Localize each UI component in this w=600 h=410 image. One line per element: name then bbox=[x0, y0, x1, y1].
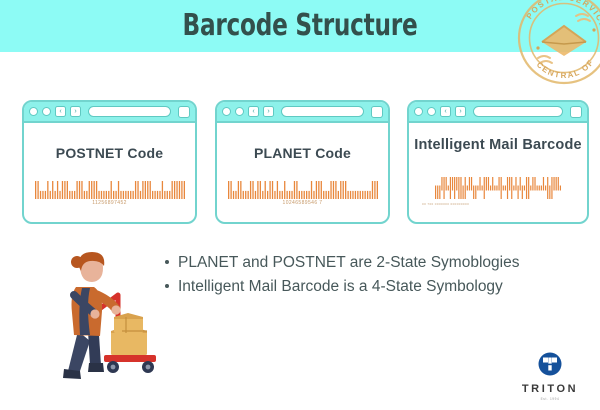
browser-chrome: ‹ › bbox=[24, 102, 195, 123]
card-title: PLANET Code bbox=[254, 145, 351, 163]
list-item: PLANET and POSTNET are 2-State Symoblogi… bbox=[178, 252, 538, 274]
square-button-icon[interactable] bbox=[570, 106, 582, 118]
window-dot-icon bbox=[42, 107, 51, 116]
chevron-right-icon[interactable]: › bbox=[70, 106, 81, 117]
chevron-left-icon[interactable]: ‹ bbox=[440, 106, 451, 117]
square-button-icon[interactable] bbox=[371, 106, 383, 118]
page-title: Barcode Structure bbox=[42, 8, 558, 43]
chevron-left-icon[interactable]: ‹ bbox=[55, 106, 66, 117]
barcode-block: 10246589546 7 bbox=[217, 181, 388, 206]
list-item: Intelligent Mail Barcode is a 4-State Sy… bbox=[178, 276, 538, 298]
card-body: POSTNET Code 11256897452 bbox=[24, 123, 195, 222]
brand-name: TRITON bbox=[521, 383, 579, 395]
card-body: PLANET Code 10246589546 7 bbox=[217, 123, 388, 222]
triton-trident-icon bbox=[538, 352, 562, 376]
window-dot-icon bbox=[427, 107, 436, 116]
barcode-block: 11256897452 bbox=[24, 181, 195, 206]
postnet-barcode bbox=[35, 181, 185, 199]
card-body: Intelligent Mail Barcode 00 700 0000000 … bbox=[409, 123, 587, 222]
chevron-right-icon[interactable]: › bbox=[455, 106, 466, 117]
card-title: Intelligent Mail Barcode bbox=[414, 136, 582, 154]
planet-barcode bbox=[228, 181, 378, 199]
square-button-icon[interactable] bbox=[178, 106, 190, 118]
address-bar[interactable] bbox=[88, 106, 171, 117]
browser-chrome: ‹ › bbox=[409, 102, 587, 123]
card-postnet[interactable]: ‹ › POSTNET Code 11256897452 bbox=[22, 100, 197, 224]
postal-stamp-icon: POSTAL SERVICE CENTRAL OF bbox=[512, 0, 600, 90]
bullet-list: PLANET and POSTNET are 2-State Symoblogi… bbox=[160, 252, 538, 301]
barcode-block: 00 700 0000000 000000000 bbox=[409, 175, 587, 206]
window-dot-icon bbox=[29, 107, 38, 116]
chevron-right-icon[interactable]: › bbox=[263, 106, 274, 117]
card-planet[interactable]: ‹ › PLANET Code 10246589546 7 bbox=[215, 100, 390, 224]
barcode-number: 00 700 0000000 000000000 bbox=[422, 202, 469, 206]
barcode-number: 10246589546 7 bbox=[283, 200, 323, 206]
intelligent-mail-barcode bbox=[435, 175, 561, 201]
address-bar[interactable] bbox=[473, 106, 563, 117]
window-dot-icon bbox=[222, 107, 231, 116]
browser-chrome: ‹ › bbox=[217, 102, 388, 123]
slide: Barcode Structure POSTAL SERVICE CENTRAL… bbox=[0, 0, 600, 410]
chevron-left-icon[interactable]: ‹ bbox=[248, 106, 259, 117]
barcode-number: 11256897452 bbox=[92, 200, 127, 206]
card-title: POSTNET Code bbox=[56, 145, 163, 163]
delivery-worker-illustration bbox=[56, 243, 174, 395]
card-intelligent-mail[interactable]: ‹ › Intelligent Mail Barcode 00 700 0000… bbox=[407, 100, 589, 224]
address-bar[interactable] bbox=[281, 106, 364, 117]
brand-tagline: Est. 1994 bbox=[521, 397, 579, 401]
brand-logo: TRITON Est. 1994 bbox=[521, 352, 579, 402]
window-dot-icon bbox=[414, 107, 423, 116]
window-dot-icon bbox=[235, 107, 244, 116]
